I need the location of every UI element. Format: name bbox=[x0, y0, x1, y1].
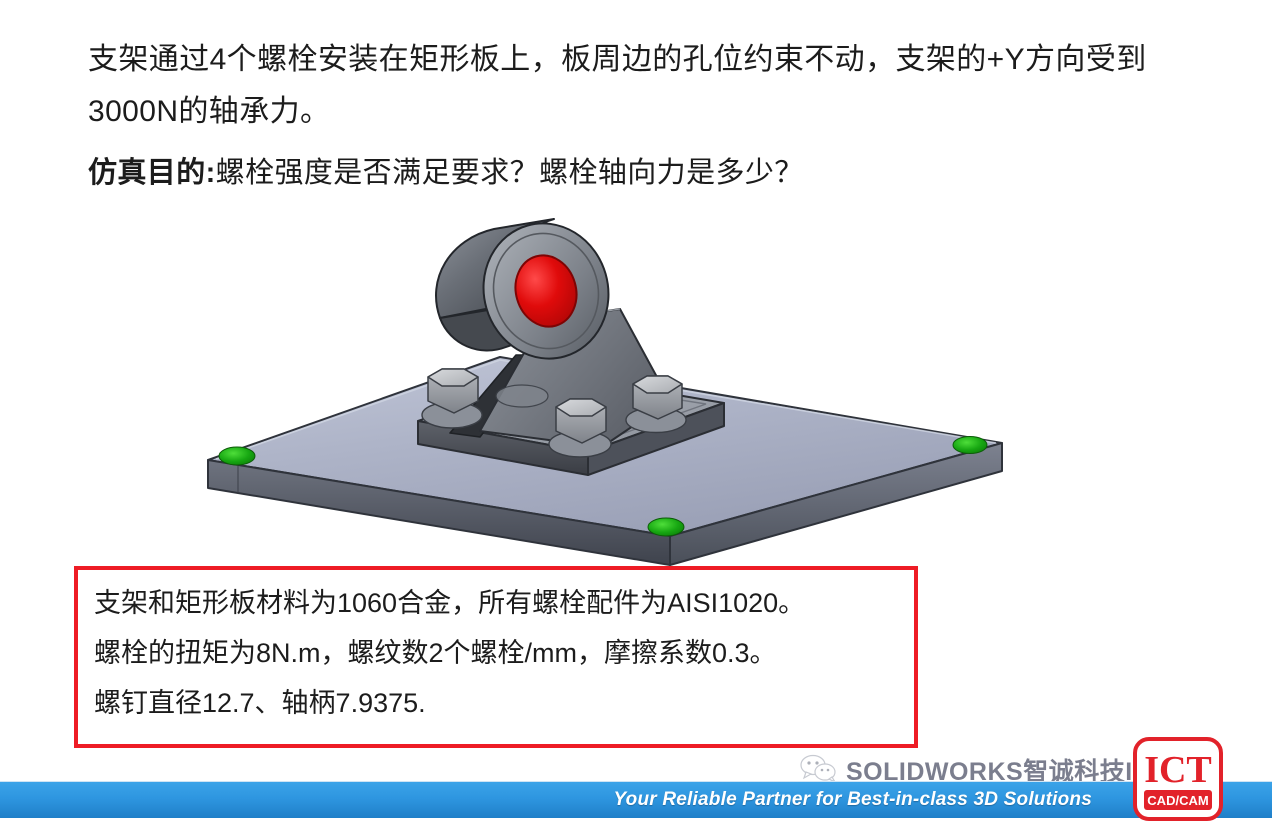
ict-logo: ICT CAD/CAM bbox=[1132, 736, 1224, 822]
fixture-marker bbox=[219, 447, 255, 465]
simulation-purpose-label: 仿真目的: bbox=[88, 157, 216, 189]
problem-description: 支架通过4个螺栓安装在矩形板上，板周边的孔位约束不动，支架的+Y方向受到3000… bbox=[88, 34, 1188, 138]
cad-model-svg bbox=[150, 205, 1050, 595]
ict-logo-main-text: ICT bbox=[1144, 749, 1212, 791]
callout-text-block: 支架和矩形板材料为1060合金，所有螺栓配件为AISI1020。 螺栓的扭矩为8… bbox=[94, 578, 924, 728]
simulation-purpose-text: 螺栓强度是否满足要求？螺栓轴向力是多少？ bbox=[216, 157, 804, 189]
slide-canvas: 支架通过4个螺栓安装在矩形板上，板周边的孔位约束不动，支架的+Y方向受到3000… bbox=[0, 0, 1272, 836]
fixture-marker bbox=[953, 437, 987, 454]
header-text-block: 支架通过4个螺栓安装在矩形板上，板周边的孔位约束不动，支架的+Y方向受到3000… bbox=[88, 34, 1188, 196]
footer-bottom-strip bbox=[0, 818, 1272, 836]
footer-bar: Your Reliable Partner for Best-in-class … bbox=[0, 782, 1272, 818]
fixture-marker bbox=[648, 518, 684, 536]
simulation-purpose-line: 仿真目的:螺栓强度是否满足要求？螺栓轴向力是多少？ bbox=[88, 150, 1188, 196]
hex-bolt bbox=[549, 399, 611, 457]
ict-logo-sub-text: CAD/CAM bbox=[1147, 793, 1208, 808]
ict-logo-svg: ICT CAD/CAM bbox=[1132, 736, 1224, 822]
cad-model-illustration bbox=[150, 205, 1050, 595]
footer-tagline: Your Reliable Partner for Best-in-class … bbox=[614, 789, 1092, 811]
callout-line: 螺钉直径12.7、轴柄7.9375. bbox=[94, 678, 924, 728]
hex-bolt bbox=[626, 376, 686, 433]
callout-line: 螺栓的扭矩为8N.m，螺纹数2个螺栓/mm，摩擦系数0.3。 bbox=[94, 628, 924, 678]
hex-bolt bbox=[422, 369, 482, 428]
hex-bolt bbox=[496, 385, 548, 407]
callout-line: 支架和矩形板材料为1060合金，所有螺栓配件为AISI1020。 bbox=[94, 578, 924, 628]
